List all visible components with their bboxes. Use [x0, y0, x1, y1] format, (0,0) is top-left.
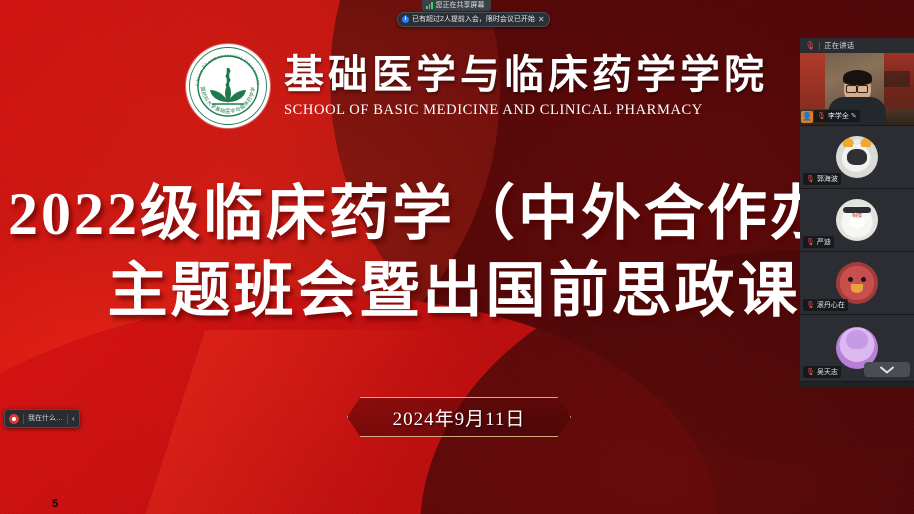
host-badge-icon: 👤 [801, 111, 813, 123]
school-name-en: SCHOOL OF BASIC MEDICINE AND CLINICAL PH… [284, 102, 768, 119]
participant-nametag: 🎙 严迪 [803, 236, 834, 248]
mic-muted-icon: 🎙 [806, 302, 815, 309]
speaking-status-label: 正在讲话 [824, 40, 854, 51]
mic-muted-icon: 🎙 [806, 369, 815, 376]
slide-title: 2022级临床药学（中外合作办学 主题班会暨出国前思政课 [0, 176, 914, 330]
mic-muted-icon: 🎙 [805, 42, 815, 50]
participant-name: 严迪 [817, 237, 831, 247]
participant-name: 李学全 [828, 111, 849, 121]
record-button-icon[interactable] [9, 414, 19, 424]
info-circle-icon [402, 16, 409, 23]
pen-icon: ✎ [851, 113, 857, 120]
participant-tile[interactable]: 相撲 🎙 严迪 [800, 189, 914, 252]
chevron-left-icon[interactable]: ‹ [72, 410, 75, 427]
screen-share-banner: 您正在共享屏幕 [422, 0, 491, 11]
school-name-block: 基础医学与临床药学学院 SCHOOL OF BASIC MEDICINE AND… [284, 54, 768, 119]
slide-corner-mark: 5 [52, 498, 62, 510]
notification-toast: 已有超过2人提前入会，限时会议已开始 ✕ [397, 12, 550, 27]
close-icon[interactable]: ✕ [538, 13, 545, 26]
toolbar-divider [67, 414, 68, 424]
participant-name: 滚丹心在 [817, 300, 845, 310]
participant-tile[interactable]: 🎙 滚丹心在 [800, 252, 914, 315]
cow-flower-avatar-icon [836, 136, 878, 178]
participant-nametag: 🎙 吴天志 [803, 366, 841, 378]
mic-muted-icon: 🎙 [817, 113, 826, 120]
date-badge: 2024年9月11日 [347, 397, 571, 437]
participant-name: 郭海波 [817, 174, 838, 184]
university-emblem-icon: China Pharmaceutical University 中国药科大学基础… [186, 44, 270, 128]
floating-meeting-toolbar: 我在什么… ‹ [4, 409, 80, 428]
chevron-down-icon[interactable] [864, 362, 910, 377]
notification-message: 已有超过2人提前入会，限时会议已开始 [412, 13, 535, 26]
shared-slide: China Pharmaceutical University 中国药科大学基础… [0, 0, 914, 514]
red-bird-avatar-icon [836, 262, 878, 304]
title-line-2: 主题班会暨出国前思政课 [0, 253, 914, 330]
date-text: 2024年9月11日 [347, 397, 571, 437]
sumo-cat-avatar-icon: 相撲 [836, 199, 878, 241]
mic-muted-icon: 🎙 [806, 176, 815, 183]
toolbar-label: 我在什么… [28, 410, 63, 427]
participant-nametag: 🎙 李学全 ✎ [814, 110, 860, 122]
signal-bars-icon [426, 2, 433, 9]
title-line-1: 2022级临床药学（中外合作办学 [0, 176, 914, 253]
screen-share-label: 您正在共享屏幕 [436, 0, 485, 11]
school-name-zh: 基础医学与临床药学学院 [284, 54, 768, 96]
participant-nametag: 🎙 郭海波 [803, 173, 841, 185]
slide-header: China Pharmaceutical University 中国药科大学基础… [186, 44, 768, 128]
participant-tile[interactable]: 👤 🎙 李学全 ✎ [800, 53, 914, 126]
rail-header: 🎙 正在讲话 [800, 38, 914, 53]
rail-divider [819, 42, 820, 50]
participant-name: 吴天志 [817, 367, 838, 377]
toolbar-divider [23, 414, 24, 424]
participant-tile[interactable]: 🎙 吴天志 [800, 315, 914, 382]
participant-tile[interactable]: 🎙 郭海波 [800, 126, 914, 189]
meeting-screen-share-window: China Pharmaceutical University 中国药科大学基础… [0, 0, 914, 514]
participant-nametag: 🎙 滚丹心在 [803, 299, 848, 311]
mic-muted-icon: 🎙 [806, 239, 815, 246]
participants-rail: 🎙 正在讲话 👤 🎙 李学全 ✎ 🎙 [800, 38, 914, 388]
